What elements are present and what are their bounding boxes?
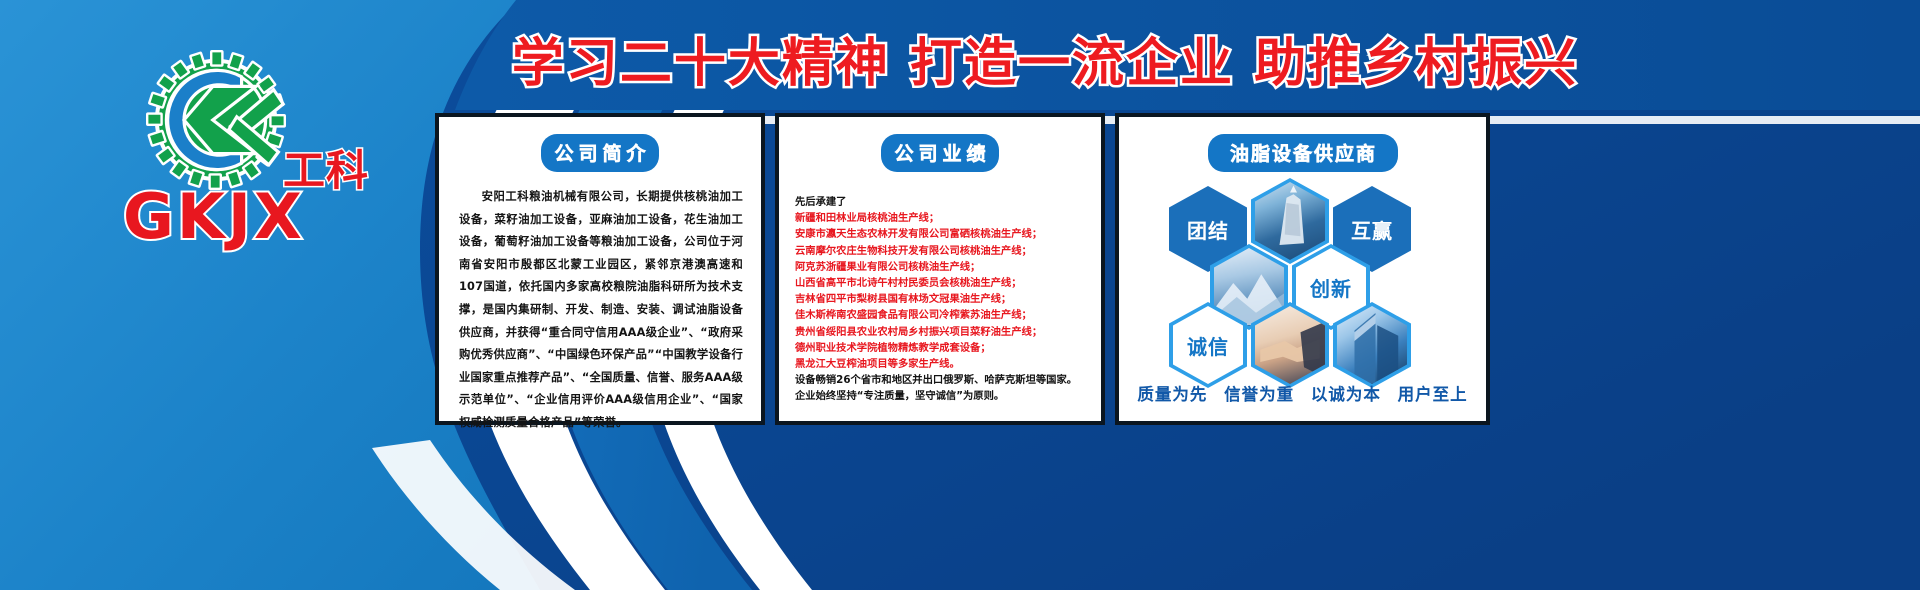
logo-latin-text: GKJX xyxy=(123,180,305,253)
record-project-item: 吉林省四平市梨树县国有林场文冠果油生产线； xyxy=(795,291,1091,307)
hex-carrier-photo[interactable] xyxy=(1251,178,1329,264)
record-project-item: 安康市瀛天生态农林开发有限公司富硒核桃油生产线； xyxy=(795,226,1091,242)
slogan-part: 质量为先 xyxy=(1137,385,1207,404)
panel-company-record: 公司业绩 先后承建了 新疆和田林业局核桃油生产线；安康市瀛天生态农林开发有限公司… xyxy=(775,113,1105,425)
panel-company-intro: 公司简介 安阳工科粮油机械有限公司，长期提供核桃油加工设备，菜籽油加工设备，亚麻… xyxy=(435,113,765,425)
page-title: 学习二十大精神 打造一流企业 助推乡村振兴 xyxy=(470,22,1620,94)
panel-intro-title: 公司简介 xyxy=(541,134,659,172)
record-project-item: 德州职业技术学院植物精炼教学成套设备； xyxy=(795,340,1091,356)
hex-label: 团结 xyxy=(1187,215,1229,244)
poster-stage: 工科 GKJX 学习二十大精神 打造一流企业 助推乡村振兴 公司简介 安阳工科粮… xyxy=(0,0,1920,590)
record-project-item: 佳木斯桦南农盛园食品有限公司冷榨紫苏油生产线； xyxy=(795,307,1091,323)
gear-e-logo-icon xyxy=(136,40,296,200)
record-project-item: 山西省高平市北诗午村村民委员会核桃油生产线； xyxy=(795,275,1091,291)
record-project-list: 新疆和田林业局核桃油生产线；安康市瀛天生态农林开发有限公司富硒核桃油生产线；云南… xyxy=(795,210,1091,372)
hex-label: 诚信 xyxy=(1187,331,1229,360)
record-project-item: 新疆和田林业局核桃油生产线； xyxy=(795,210,1091,226)
handshake-shape-icon xyxy=(1255,306,1325,383)
hex-label: 创新 xyxy=(1310,273,1352,302)
skyscraper-shape-icon xyxy=(1337,306,1407,383)
slogan-part: 信誉为重 xyxy=(1224,385,1294,404)
panel-record-body: 先后承建了 新疆和田林业局核桃油生产线；安康市瀛天生态农林开发有限公司富硒核桃油… xyxy=(795,194,1091,405)
carrier-shape-icon xyxy=(1255,182,1325,259)
panel-intro-body: 安阳工科粮油机械有限公司，长期提供核桃油加工设备，菜籽油加工设备，亚麻油加工设备… xyxy=(459,186,743,435)
hex-label: 互赢 xyxy=(1351,215,1393,244)
panel-supplier-values: 油脂设备供应商 团结 互赢 xyxy=(1115,113,1490,425)
record-lead: 先后承建了 xyxy=(795,194,1091,210)
record-project-item: 阿克苏浙疆果业有限公司核桃油生产线； xyxy=(795,259,1091,275)
record-project-item: 贵州省绥阳县农业农村局乡村振兴项目菜籽油生产线； xyxy=(795,324,1091,340)
record-tail-notes: 设备畅销26个省市和地区并出口俄罗斯、哈萨克斯坦等国家。企业始终坚持“专注质量，… xyxy=(795,372,1091,404)
panel-record-title: 公司业绩 xyxy=(881,134,999,172)
company-logo: 工科 GKJX xyxy=(108,40,378,255)
record-tail-item: 企业始终坚持“专注质量，坚守诚信”为原则。 xyxy=(795,388,1091,404)
record-project-item: 黑龙江大豆榨油项目等多家生产线。 xyxy=(795,356,1091,372)
record-tail-item: 设备畅销26个省市和地区并出口俄罗斯、哈萨克斯坦等国家。 xyxy=(795,372,1091,388)
skyscraper-photo xyxy=(1337,306,1407,384)
aircraft-carrier-photo xyxy=(1255,182,1325,260)
slogan-part: 以诚为本 xyxy=(1311,385,1381,404)
panel-supply-title: 油脂设备供应商 xyxy=(1208,134,1398,172)
handshake-photo xyxy=(1255,306,1325,384)
record-project-item: 云南摩尔农庄生物科技开发有限公司核桃油生产线； xyxy=(795,243,1091,259)
values-hex-cluster: 团结 互赢 xyxy=(1119,178,1494,368)
slogan-part: 用户至上 xyxy=(1398,385,1468,404)
values-slogan: 质量为先 信誉为重 以诚为本 用户至上 xyxy=(1119,381,1486,405)
